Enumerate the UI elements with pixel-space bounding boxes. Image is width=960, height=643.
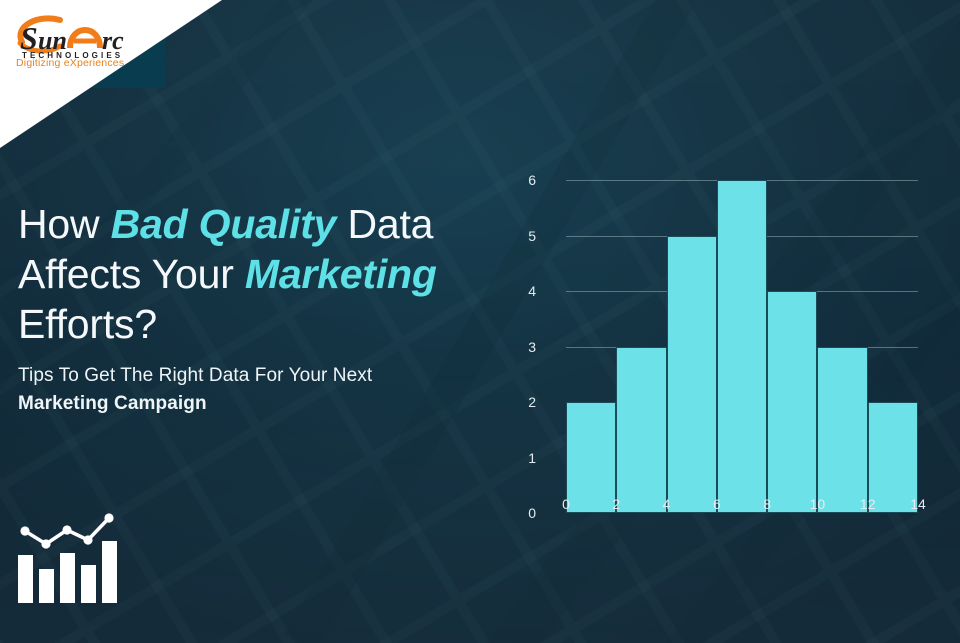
histogram-bar	[616, 347, 666, 513]
x-tick-label: 10	[810, 496, 826, 512]
y-tick-label: 2	[496, 394, 536, 410]
bar-series	[566, 158, 918, 513]
histogram-bar	[767, 291, 817, 513]
headline-part-3: Efforts?	[18, 301, 157, 347]
x-tick-label: 8	[763, 496, 771, 512]
brand-tagline: Digitizing eXperiences	[16, 57, 124, 69]
y-tick-label: 5	[496, 228, 536, 244]
page-subtitle: Tips To Get The Right Data For Your Next…	[18, 362, 488, 418]
headline-part-1: How	[18, 201, 111, 247]
subtitle-line-2: Marketing Campaign	[18, 390, 488, 418]
x-tick-label: 12	[860, 496, 876, 512]
y-tick-label: 1	[496, 450, 536, 466]
brand-logo: S un rc TECHNOLOGIES Digitizing eXperien…	[8, 12, 208, 72]
histogram-chart: 0123456 02468101214	[538, 120, 938, 510]
x-tick-label: 2	[612, 496, 620, 512]
histogram-bar	[717, 180, 767, 513]
y-tick-label: 3	[496, 339, 536, 355]
y-tick-label: 6	[496, 172, 536, 188]
poster-canvas: S un rc TECHNOLOGIES Digitizing eXperien…	[0, 0, 960, 643]
x-tick-label: 14	[910, 496, 926, 512]
y-tick-label: 4	[496, 283, 536, 299]
x-tick-label: 4	[663, 496, 671, 512]
x-tick-label: 0	[562, 496, 570, 512]
y-tick-label: 0	[496, 505, 536, 521]
page-title: How Bad Quality Data Affects Your Market…	[18, 199, 518, 349]
headline-highlight-1: Bad Quality	[111, 201, 337, 247]
x-tick-label: 6	[713, 496, 721, 512]
x-axis-tick-labels: 02468101214	[566, 496, 918, 516]
plot-area: 0123456 02468101214	[566, 138, 918, 513]
histogram-bar	[817, 347, 867, 513]
sunarc-logo-icon: S un rc TECHNOLOGIES	[8, 12, 208, 62]
histogram-bar	[667, 236, 717, 513]
bar-chart-trendline-icon	[16, 513, 120, 605]
subtitle-line-1: Tips To Get The Right Data For Your Next	[18, 365, 372, 386]
headline-highlight-2: Marketing	[245, 251, 437, 297]
